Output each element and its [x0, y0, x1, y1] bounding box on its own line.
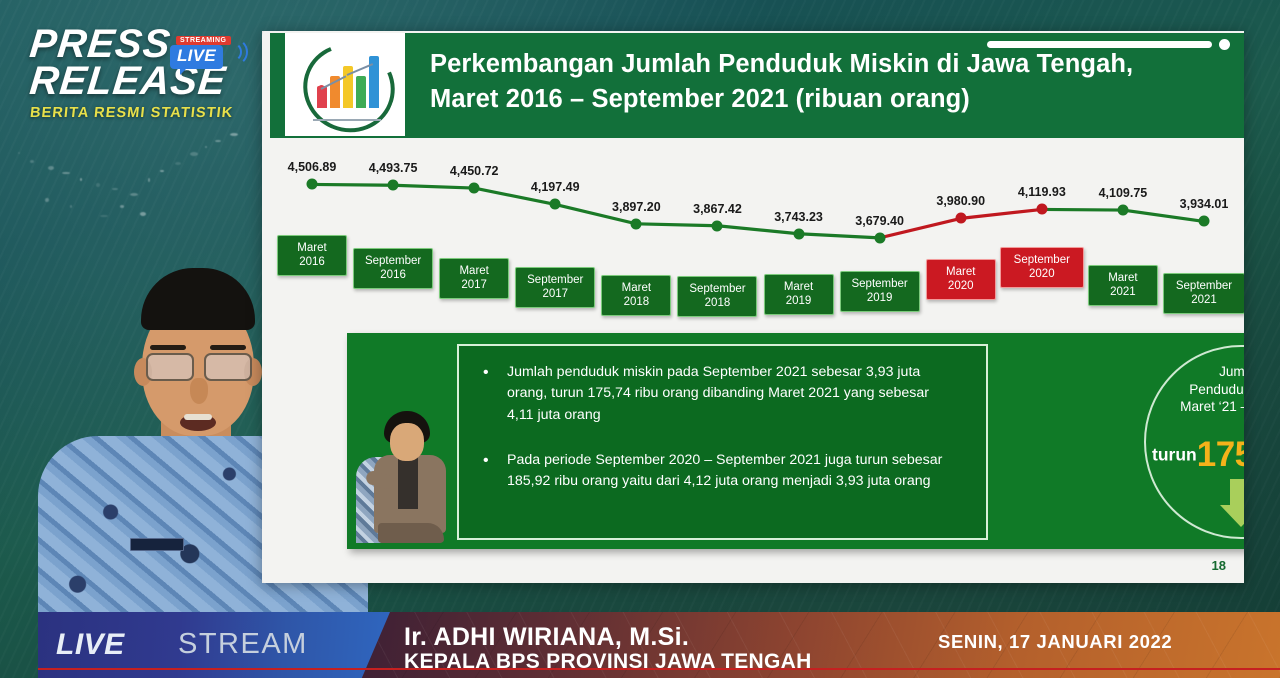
water-highlight [70, 205, 72, 208]
water-highlight [96, 183, 100, 187]
chart-value-label: 3,867.42 [693, 202, 742, 216]
category-line1: September [520, 274, 590, 288]
accent-line [38, 668, 1280, 671]
chart-data-point [631, 218, 642, 229]
chart-category-box: Maret2019 [764, 274, 834, 315]
presenter-nose [190, 378, 208, 404]
speaker-name: Ir. ADHI WIRIANA, M.Si. [404, 623, 689, 652]
chart-data-point [1117, 205, 1128, 216]
presentation-slide: Perkembangan Jumlah Penduduk Miskin di J… [262, 31, 1244, 583]
speaker-role: KEPALA BPS PROVINSI JAWA TENGAH [404, 650, 812, 674]
category-line2: 2020 [931, 280, 991, 294]
category-line2: 2016 [358, 269, 428, 283]
chart-value-label: 3,743.23 [774, 210, 823, 224]
water-highlight [48, 166, 54, 170]
category-line1: Maret [606, 282, 666, 296]
category-line1: September [845, 278, 915, 292]
chart-data-point [712, 220, 723, 231]
chart-category-box: September2017 [515, 267, 595, 308]
category-line2: 2017 [444, 279, 504, 293]
category-line1: September [1005, 254, 1079, 268]
slide-header-bar: Perkembangan Jumlah Penduduk Miskin di J… [270, 33, 1244, 138]
water-highlight [175, 162, 181, 165]
live-label: LIVE [170, 45, 223, 69]
chart-data-point [550, 199, 561, 210]
water-highlight [45, 198, 49, 202]
category-line1: September [358, 255, 428, 269]
chart-category-box: September2016 [353, 248, 433, 289]
chart-data-point [955, 213, 966, 224]
callout-value-row: turun175,74ribu [1124, 435, 1244, 475]
chart-category-box: Maret2020 [926, 259, 996, 300]
bullet-text: Pada periode September 2020 – September … [507, 452, 942, 489]
chart-value-label: 3,897.20 [612, 200, 661, 214]
water-highlight [100, 215, 108, 217]
chart-value-label: 3,980.90 [936, 194, 985, 208]
chart-data-point [307, 179, 318, 190]
water-highlight [230, 133, 238, 136]
category-line1: September [682, 283, 752, 297]
water-highlight [130, 193, 138, 196]
presenter-eyebrow [150, 345, 186, 350]
page-title: Perkembangan Jumlah Penduduk Miskin di J… [430, 47, 1170, 117]
down-arrow-icon [1220, 479, 1244, 527]
water-highlight [120, 205, 124, 208]
chart-data-point [793, 228, 804, 239]
presenter-glasses-lens [204, 353, 252, 381]
chart-value-label: 4,506.89 [288, 160, 337, 174]
logo-baseline [313, 119, 381, 121]
category-line2: 2021 [1093, 286, 1153, 300]
illustration-shirt [398, 457, 418, 509]
water-highlight [80, 178, 82, 181]
category-line2: 2018 [682, 297, 752, 311]
chart-data-point [874, 232, 885, 243]
category-line2: 2019 [769, 295, 829, 309]
lower-third-bar: LIVE STREAM Ir. ADHI WIRIANA, M.Si. KEPA… [0, 612, 1280, 678]
chart-category-box: Maret2017 [439, 258, 509, 299]
callout-heading-line1: Jumlah [1146, 363, 1244, 381]
illustration-face [390, 423, 424, 461]
broadcast-screen: PRESS RELEASE BERITA RESMI STATISTIK STR… [0, 0, 1280, 678]
category-line1: Maret [444, 265, 504, 279]
live-streaming-badge: STREAMING LIVE [170, 36, 240, 74]
chart-value-label: 4,109.75 [1099, 186, 1148, 200]
chart-category-box: Maret2018 [601, 275, 671, 316]
highlight-circle-callout: Jumlah Penduduk Miskin Maret ‘21 – Sept … [1144, 345, 1244, 539]
chart-category-box: September2018 [677, 276, 757, 317]
presenter-glasses-lens [146, 353, 194, 381]
category-line1: Maret [931, 266, 991, 280]
category-line2: 2016 [282, 256, 342, 270]
category-line1: Maret [1093, 272, 1153, 286]
chart-value-label: 4,493.75 [369, 161, 418, 175]
chart-value-label: 4,119.93 [1018, 185, 1066, 199]
arrow-head [1220, 505, 1244, 527]
bullet-list-box: • Jumlah penduduk miskin pada September … [457, 344, 988, 540]
presenter-peci-cap [141, 268, 255, 330]
bullet-dot-icon: • [483, 361, 489, 385]
chart-category-box: September2020 [1000, 247, 1084, 288]
chart-value-label: 3,934.01 [1180, 197, 1229, 211]
wifi-arc-icon [220, 38, 248, 66]
water-highlight [62, 172, 70, 174]
chart-data-point [469, 183, 480, 194]
presenter-teeth [184, 414, 212, 420]
stream-text: STREAM [178, 628, 308, 661]
poor-person-illustration-icon [356, 411, 452, 543]
chart-data-point [388, 180, 399, 191]
water-highlight [160, 170, 164, 172]
category-line1: Maret [282, 242, 342, 256]
arrow-stem [1230, 479, 1244, 505]
chart-data-point [1199, 216, 1210, 227]
callout-heading-line2: Penduduk Miskin [1146, 381, 1244, 399]
category-line1: Maret [769, 281, 829, 295]
category-line2: 2018 [606, 296, 666, 310]
logo-bar-green [356, 76, 366, 108]
water-highlight [112, 188, 118, 190]
callout-value: 175,74 [1197, 435, 1244, 474]
broadcast-date: SENIN, 17 JANUARI 2022 [938, 631, 1172, 653]
slide-title-line1: Perkembangan Jumlah Penduduk Miskin di J… [430, 47, 1170, 82]
summary-panel: • Jumlah penduduk miskin pada September … [347, 333, 1244, 549]
water-highlight [148, 178, 150, 182]
bullet-text: Jumlah penduduk miskin pada September 20… [507, 364, 929, 423]
category-line2: 2019 [845, 292, 915, 306]
water-highlight [140, 212, 146, 216]
water-highlight [205, 146, 207, 148]
callout-heading: Jumlah Penduduk Miskin Maret ‘21 – Sept … [1146, 363, 1244, 416]
chart-value-label: 4,197.49 [531, 180, 580, 194]
live-text: LIVE [56, 628, 125, 662]
press-release-logo: PRESS RELEASE BERITA RESMI STATISTIK STR… [30, 26, 245, 131]
chart-data-point [1036, 204, 1047, 215]
chart-category-box: Maret2021 [1088, 265, 1158, 306]
list-item: • Pada periode September 2020 – Septembe… [507, 450, 947, 493]
presenter-name-badge [130, 538, 184, 551]
callout-turun-label: turun [1152, 445, 1197, 465]
bullet-dot-icon: • [483, 449, 489, 473]
category-line2: 2020 [1005, 268, 1079, 282]
chart-value-label: 4,450.72 [450, 164, 499, 178]
press-release-subtitle: BERITA RESMI STATISTIK [29, 105, 246, 121]
poverty-trend-line-chart: 4,506.894,493.754,450.724,197.493,897.20… [270, 143, 1244, 318]
progress-knob[interactable] [1219, 39, 1230, 50]
water-highlight [190, 152, 198, 156]
callout-heading-line3: Maret ‘21 – Sept ‘21 [1146, 398, 1244, 416]
category-line2: 2021 [1168, 294, 1240, 308]
illustration-legs [378, 523, 444, 543]
chart-category-box: September2021 [1163, 273, 1244, 314]
logo-tile [285, 33, 405, 136]
category-line1: September [1168, 280, 1240, 294]
water-highlight [18, 152, 20, 154]
water-highlight [215, 140, 221, 142]
list-item: • Jumlah penduduk miskin pada September … [507, 362, 947, 426]
slide-title-line2: Maret 2016 – September 2021 (ribuan oran… [430, 82, 1170, 117]
water-highlight [30, 160, 34, 163]
slide-page-number: 18 [1212, 558, 1226, 573]
category-line2: 2017 [520, 288, 590, 302]
presenter-eyebrow [210, 345, 246, 350]
chart-value-label: 3,679.40 [855, 214, 904, 228]
bps-statistics-logo-icon [299, 44, 391, 126]
chart-category-box: September2019 [840, 271, 920, 312]
badge-tail [180, 66, 189, 75]
chart-category-box: Maret2016 [277, 235, 347, 276]
